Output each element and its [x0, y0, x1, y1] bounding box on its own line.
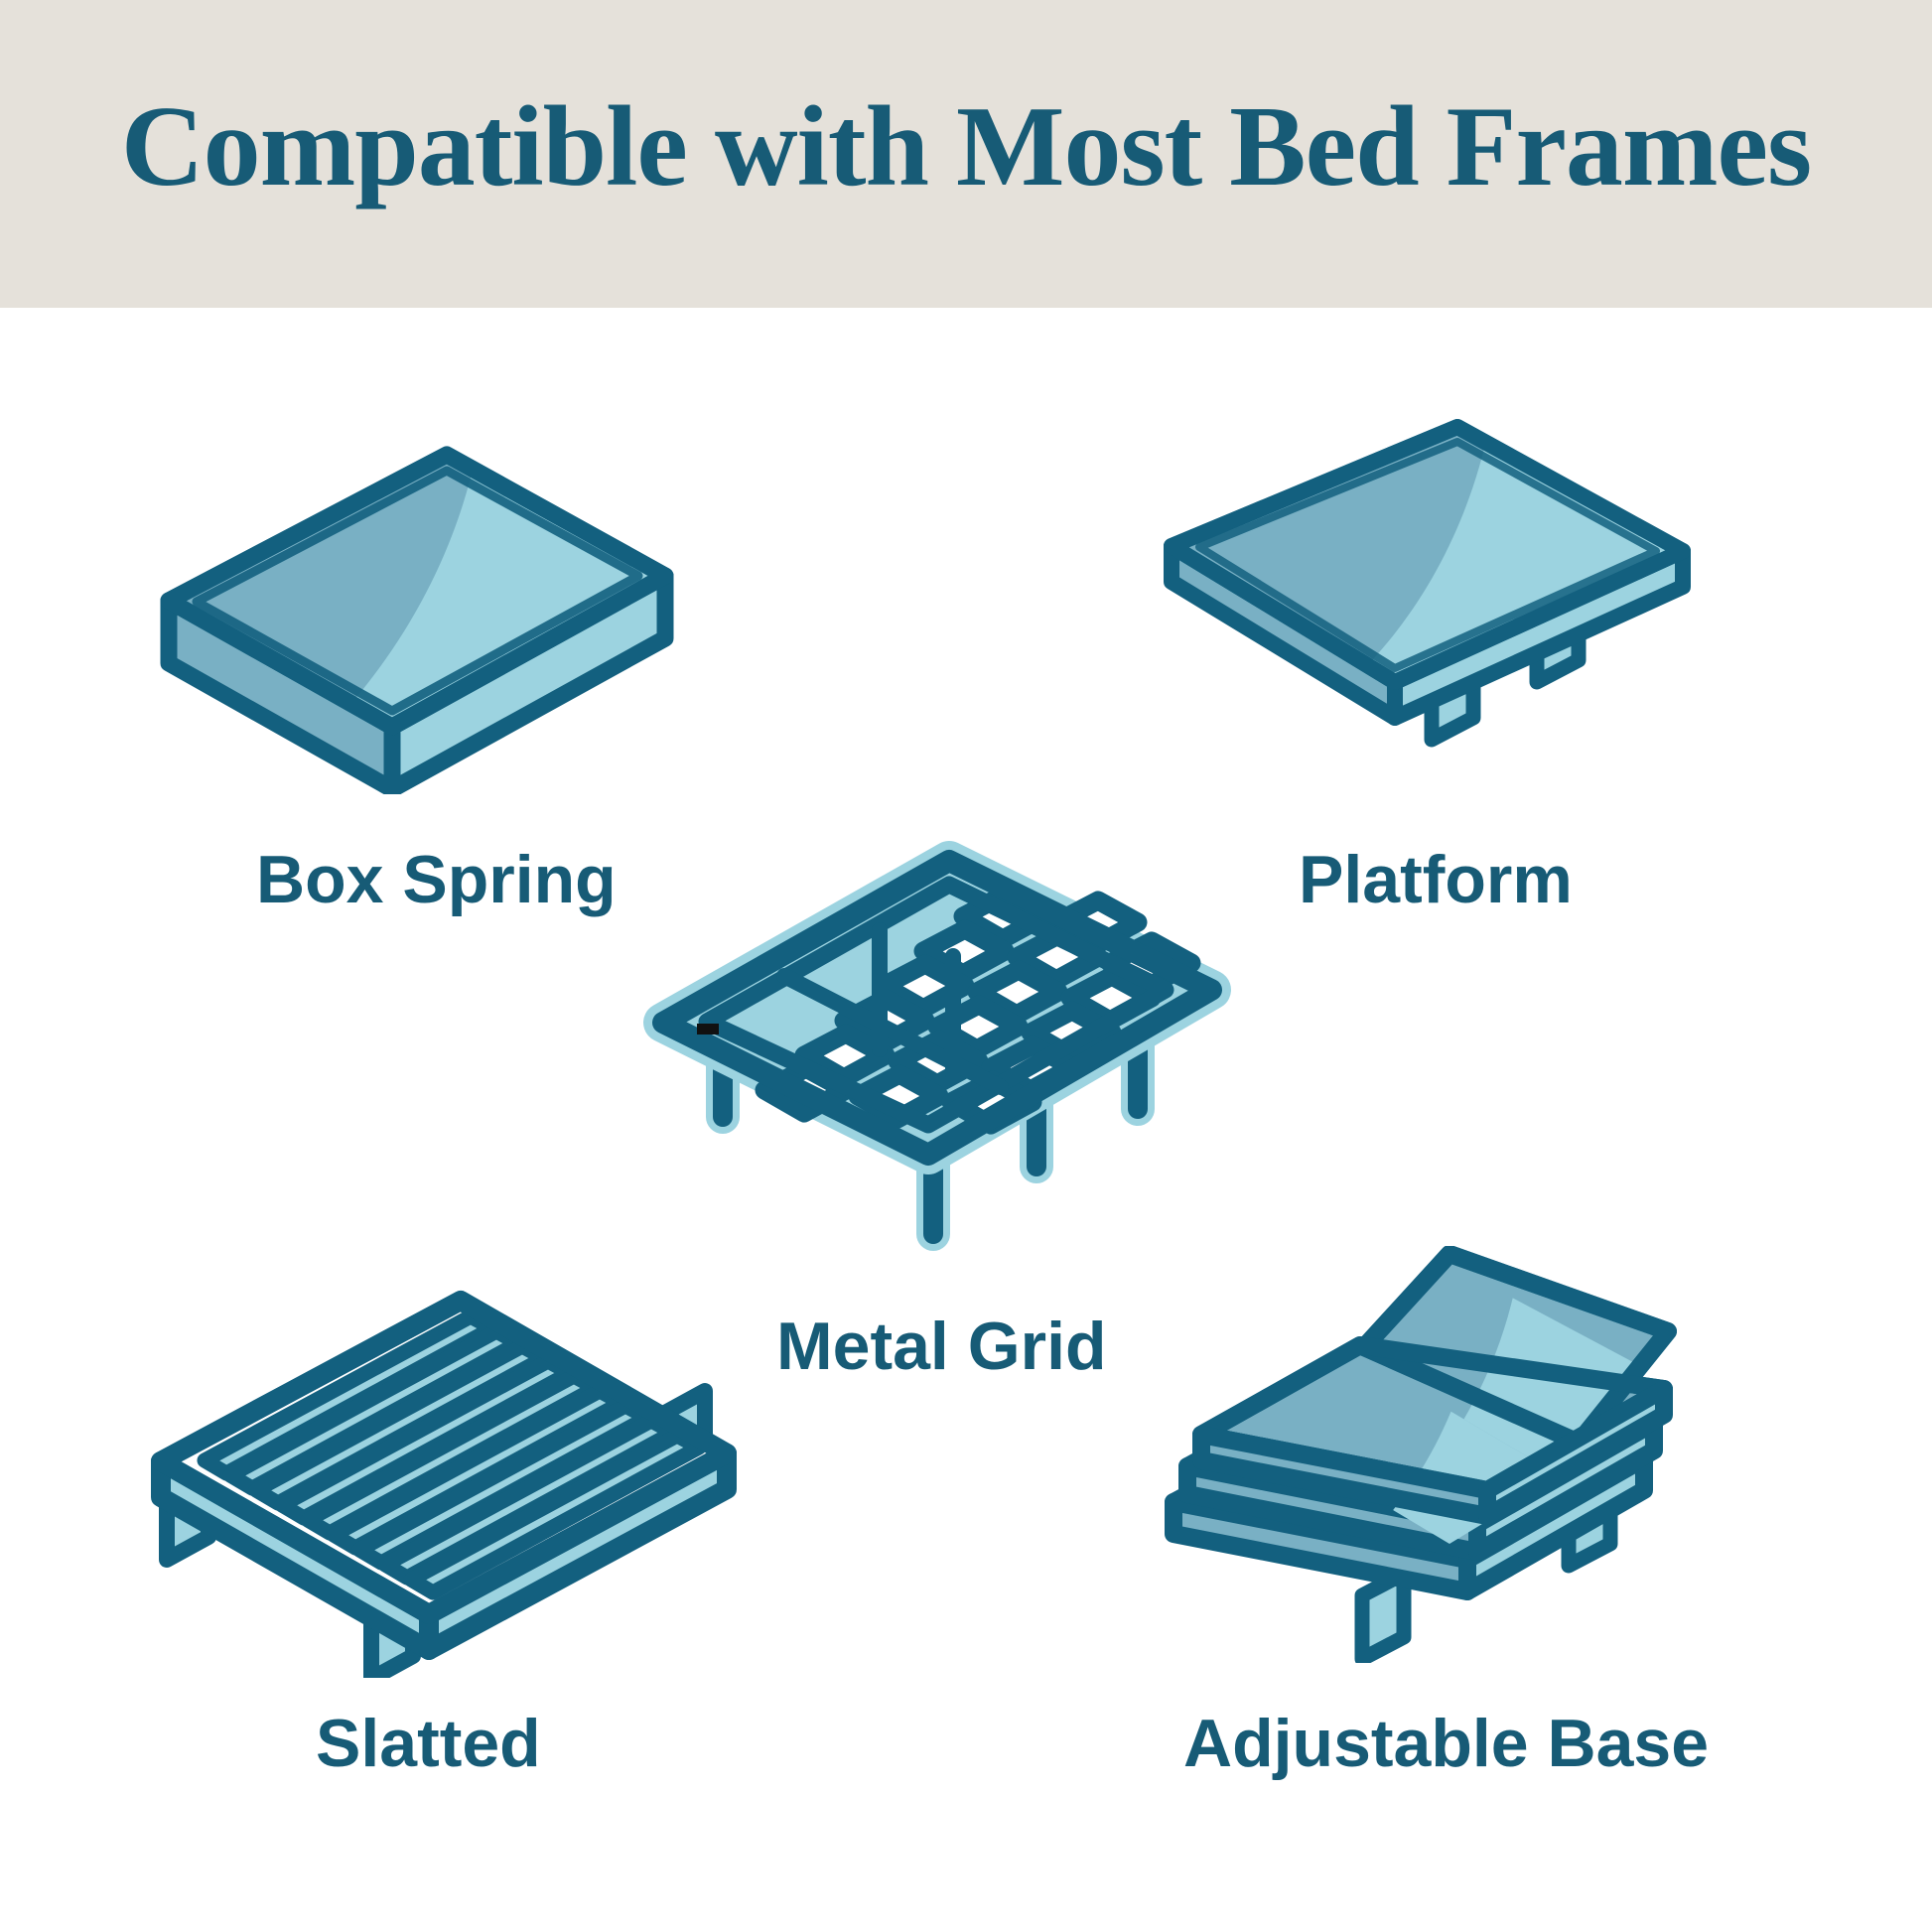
caption-platform: Platform [1299, 846, 1573, 913]
adjustable-base-illustration [1152, 1246, 1767, 1663]
box-spring-illustration [109, 397, 725, 794]
box-spring-isometric-slab-icon [109, 397, 725, 794]
adjustable-base-icon [1152, 1246, 1767, 1663]
slatted-illustration [147, 1281, 743, 1678]
slatted-base-icon [147, 1281, 743, 1678]
metal-grid-lattice-icon [635, 839, 1251, 1256]
grid-notch-marker [697, 1024, 719, 1035]
platform-illustration [1142, 412, 1757, 750]
platform-isometric-slab-with-legs-icon [1142, 412, 1757, 750]
caption-box-spring: Box Spring [256, 846, 617, 913]
caption-metal-grid: Metal Grid [776, 1312, 1107, 1380]
page-title: Compatible with Most Bed Frames [0, 0, 1932, 308]
caption-adjustable-base: Adjustable Base [1183, 1710, 1709, 1777]
caption-slatted: Slatted [316, 1710, 541, 1777]
metal-grid-illustration [635, 839, 1251, 1256]
infographic-page: Compatible with Most Bed Frames Box [0, 0, 1932, 1932]
